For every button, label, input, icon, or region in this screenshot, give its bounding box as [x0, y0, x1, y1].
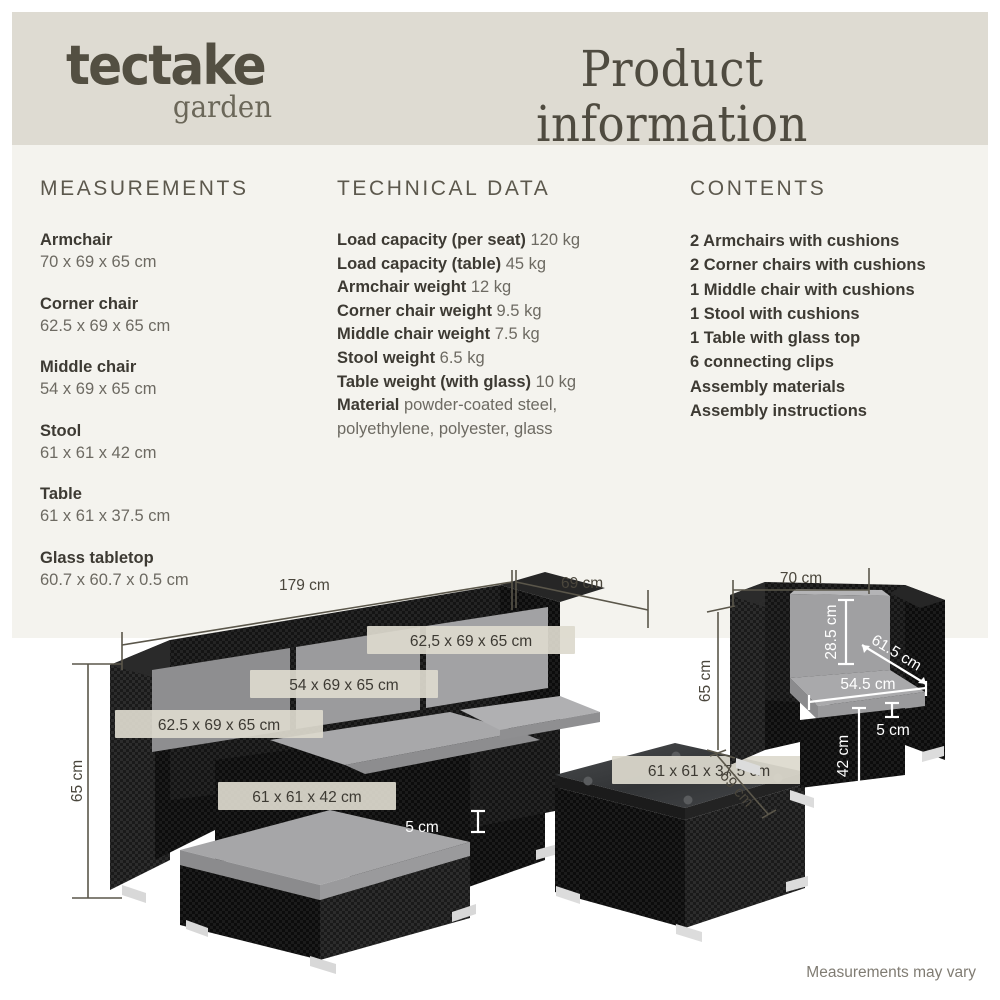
armchair-width-label: 70 cm [780, 570, 822, 587]
armchair-seat-base [800, 708, 905, 788]
contents-item: Assembly instructions [690, 399, 980, 423]
technical-row: Armchair weight 12 kg [337, 276, 667, 300]
measurement-item: Armchair 70 x 69 x 65 cm [40, 229, 330, 274]
sofa-middle-label: 54 x 69 x 65 cm [289, 677, 398, 694]
armchair-seat-height-label: 42 cm [835, 735, 852, 777]
technical-data-column: TECHNICAL DATA Load capacity (per seat) … [337, 177, 667, 441]
armchair-right-arm [905, 585, 945, 760]
technical-row: Load capacity (per seat) 120 kg [337, 229, 667, 253]
contents-item: 2 Corner chairs with cushions [690, 253, 980, 277]
sofa-height-label: 65 cm [69, 760, 86, 802]
technical-label: Load capacity (per seat) [337, 231, 526, 249]
stool-cushion-thickness-label: 5 cm [405, 819, 439, 836]
measurement-name: Corner chair [40, 293, 330, 315]
armchair-cushion-thickness-label: 5 cm [876, 722, 910, 739]
measurement-item: Middle chair 54 x 69 x 65 cm [40, 356, 330, 401]
sofa-corner-right-label: 62,5 x 69 x 65 cm [410, 633, 532, 650]
footer-note: Measurements may vary [806, 964, 976, 982]
brand-logo: tectake garden [66, 40, 296, 130]
contents-item: 1 Stool with cushions [690, 302, 980, 326]
brand-name: tectake [66, 40, 280, 91]
technical-value: 10 kg [536, 373, 576, 391]
contents-item: Assembly materials [690, 375, 980, 399]
armchair-seat-width-label: 54.5 cm [840, 676, 895, 693]
technical-row: Middle chair weight 7.5 kg [337, 323, 667, 347]
product-illustrations: 179 cm 69 cm 65 cm 62,5 x 69 x 65 c [0, 560, 1000, 1000]
technical-value: 45 kg [506, 255, 546, 273]
sofa-corner-left-label: 62.5 x 69 x 65 cm [158, 717, 280, 734]
measurements-heading: MEASUREMENTS [40, 177, 330, 201]
technical-row: Table weight (with glass) 10 kg [337, 371, 667, 395]
glass-pad [584, 777, 593, 786]
technical-value: 12 kg [471, 278, 511, 296]
contents-item: 6 connecting clips [690, 350, 980, 374]
measurement-dimensions: 61 x 61 x 37.5 cm [40, 505, 330, 527]
technical-label: Load capacity (table) [337, 255, 501, 273]
sofa-depth-label: 69 cm [561, 575, 603, 592]
measurement-item: Table 61 x 61 x 37.5 cm [40, 483, 330, 528]
sofa-illustration: 179 cm 69 cm 65 cm 62,5 x 69 x 65 c [69, 570, 648, 974]
technical-value: 6.5 kg [440, 349, 485, 367]
contents-item: 2 Armchairs with cushions [690, 229, 980, 253]
armchair-left-arm-outer [730, 582, 765, 765]
measurement-dimensions: 70 x 69 x 65 cm [40, 251, 330, 273]
technical-row: Stool weight 6.5 kg [337, 347, 667, 371]
measurements-column: MEASUREMENTS Armchair 70 x 69 x 65 cm Co… [40, 177, 330, 610]
technical-label: Stool weight [337, 349, 435, 367]
brand-subline: garden [82, 93, 272, 123]
technical-label: Armchair weight [337, 278, 466, 296]
table-illustration: 61 x 61 x 37.5 cm [555, 743, 808, 942]
contents-item: 1 Table with glass top [690, 326, 980, 350]
technical-label: Middle chair weight [337, 325, 490, 343]
technical-value: 7.5 kg [495, 325, 540, 343]
material-continuation: polyethylene, polyester, glass [337, 418, 667, 442]
measurement-dimensions: 61 x 61 x 42 cm [40, 442, 330, 464]
technical-value: powder-coated steel, [404, 396, 557, 414]
page-title: Product information [438, 42, 906, 152]
table-foot [676, 924, 702, 942]
technical-label: Table weight (with glass) [337, 373, 531, 391]
technical-value: 120 kg [531, 231, 581, 249]
armchair-backrest-label: 28.5 cm [823, 604, 840, 659]
measurement-dimensions: 62.5 x 69 x 65 cm [40, 315, 330, 337]
measurement-name: Middle chair [40, 356, 330, 378]
sofa-foot [122, 885, 146, 903]
technical-data-heading: TECHNICAL DATA [337, 177, 667, 201]
measurement-name: Armchair [40, 229, 330, 251]
measurement-item: Stool 61 x 61 x 42 cm [40, 420, 330, 465]
header-band: tectake garden Product information [12, 12, 988, 145]
armchair-height-label: 65 cm [697, 660, 714, 702]
armchair-illustration: 70 cm 65 cm 69 cm [697, 568, 945, 818]
technical-value: 9.5 kg [497, 302, 542, 320]
technical-label: Corner chair weight [337, 302, 492, 320]
measurement-dimensions: 54 x 69 x 65 cm [40, 378, 330, 400]
measurement-name: Stool [40, 420, 330, 442]
sofa-width-label: 179 cm [279, 577, 330, 594]
contents-column: CONTENTS 2 Armchairs with cushions 2 Cor… [690, 177, 980, 423]
technical-label: Material [337, 396, 399, 414]
technical-row: Corner chair weight 9.5 kg [337, 300, 667, 324]
contents-heading: CONTENTS [690, 177, 980, 201]
stool-label: 61 x 61 x 42 cm [252, 789, 361, 806]
technical-row: Load capacity (table) 45 kg [337, 253, 667, 277]
product-information-sheet: tectake garden Product information MEASU… [0, 0, 1000, 1000]
glass-pad [684, 796, 693, 805]
contents-item: 1 Middle chair with cushions [690, 278, 980, 302]
technical-row: Material powder-coated steel, [337, 394, 667, 418]
measurement-name: Table [40, 483, 330, 505]
measurement-item: Corner chair 62.5 x 69 x 65 cm [40, 293, 330, 338]
